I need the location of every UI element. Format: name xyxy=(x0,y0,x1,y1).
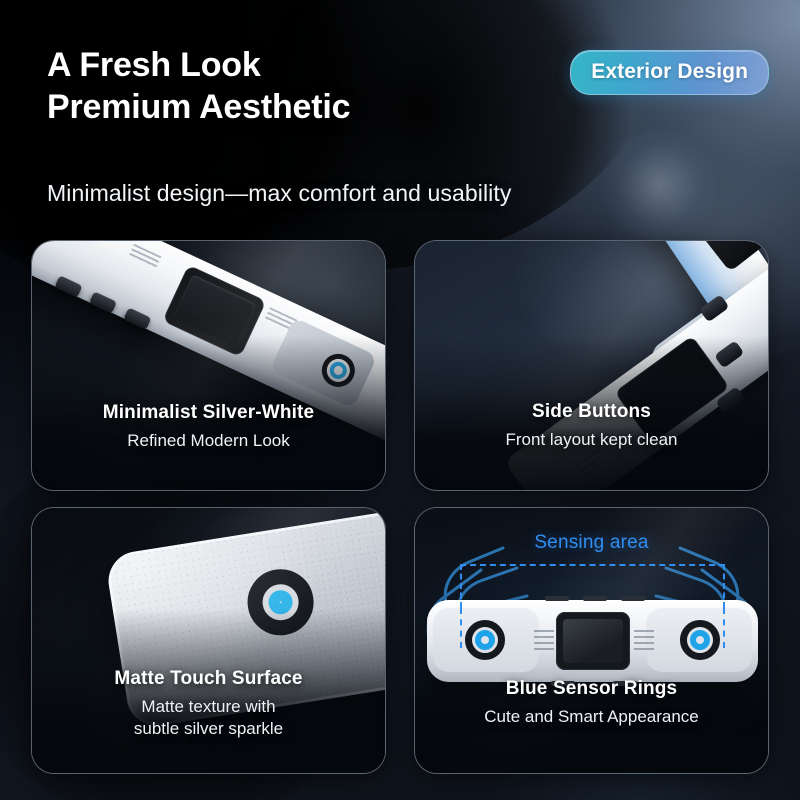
page-subtitle: Minimalist design—max comfort and usabil… xyxy=(47,180,511,207)
blue-sensor-ring-icon xyxy=(465,620,505,660)
sensing-area-leader-line xyxy=(460,608,462,648)
card-title: Blue Sensor Rings xyxy=(415,678,768,700)
category-badge[interactable]: Exterior Design xyxy=(570,50,769,95)
hero-section: A Fresh Look Premium Aesthetic Minimalis… xyxy=(0,0,800,232)
vent-grille xyxy=(534,630,554,650)
card-caption: Matte Touch Surface Matte texture with s… xyxy=(32,668,385,740)
blue-sensor-ring-icon xyxy=(680,620,720,660)
feature-card-side-buttons[interactable]: Side Buttons Front layout kept clean xyxy=(414,240,769,491)
sensing-area-annotation: Sensing area xyxy=(415,532,768,554)
card-caption: Minimalist Silver-White Refined Modern L… xyxy=(32,402,385,452)
card-subtitle: Refined Modern Look xyxy=(32,430,385,452)
card-title: Minimalist Silver-White xyxy=(32,402,385,424)
card-title: Side Buttons xyxy=(415,401,768,423)
product-photo xyxy=(415,241,768,490)
promo-page: A Fresh Look Premium Aesthetic Minimalis… xyxy=(0,0,800,800)
card-subtitle: Front layout kept clean xyxy=(415,429,768,451)
product-photo: Sensing area xyxy=(415,508,768,773)
side-button xyxy=(714,340,744,368)
card-subtitle: Cute and Smart Appearance xyxy=(415,706,768,728)
card-caption: Side Buttons Front layout kept clean xyxy=(415,401,768,451)
sensing-area-bracket xyxy=(460,564,725,608)
feature-card-minimalist-silver-white[interactable]: Minimalist Silver-White Refined Modern L… xyxy=(31,240,386,491)
page-title: A Fresh Look Premium Aesthetic xyxy=(47,44,350,128)
card-subtitle: Matte texture with subtle silver sparkle xyxy=(32,696,385,740)
vent-grille xyxy=(575,449,610,481)
card-title: Matte Touch Surface xyxy=(32,668,385,690)
feature-card-matte-touch-surface[interactable]: Matte Touch Surface Matte texture with s… xyxy=(31,507,386,774)
device-display xyxy=(556,612,630,670)
feature-card-grid: Minimalist Silver-White Refined Modern L… xyxy=(31,240,769,774)
product-photo xyxy=(32,241,385,490)
vent-grille xyxy=(634,630,654,650)
feature-card-blue-sensor-rings[interactable]: Sensing area xyxy=(414,507,769,774)
blue-sensor-ring-icon xyxy=(243,564,319,640)
sensing-area-leader-line xyxy=(723,608,725,648)
device-front-view xyxy=(427,600,758,682)
card-caption: Blue Sensor Rings Cute and Smart Appeara… xyxy=(415,678,768,728)
vent-grille xyxy=(128,244,161,269)
